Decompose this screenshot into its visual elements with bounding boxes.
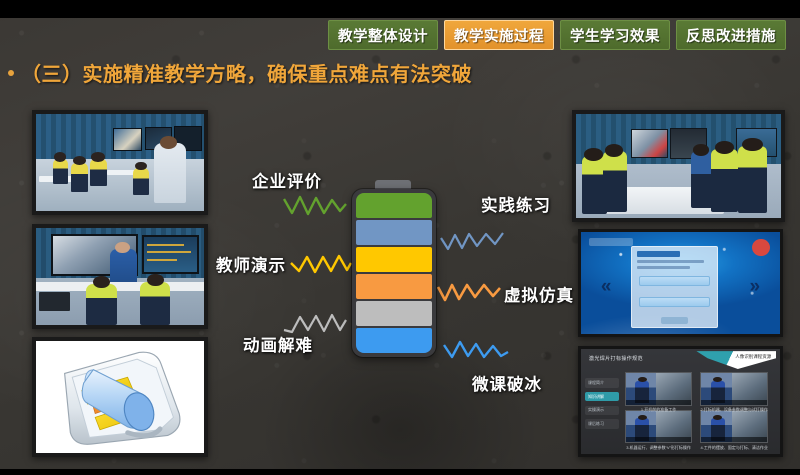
microlecture-menu-item-2[interactable]: 实操演示 xyxy=(585,406,619,415)
title-bullet-icon xyxy=(8,70,14,76)
battery-segment-1 xyxy=(356,220,432,245)
battery-segment-4 xyxy=(356,301,432,326)
navigation-tabs: 教学整体设计 教学实施过程 学生学习效果 反思改进措施 xyxy=(328,20,786,50)
top-black-bar xyxy=(0,0,800,18)
photo-students-practice xyxy=(572,110,785,222)
video-caption-1: 2.打标机器、设备参数调整与试打操作 xyxy=(700,407,768,413)
page-title: （三）实施精准教学方略，确保重点难点有法突破 xyxy=(21,58,472,87)
battery-segment-5 xyxy=(356,328,432,353)
photo-microlecture-platform-ui: 激光焊片打标操作规范 人像识别课程资源 课程简介 知识讲解 实操演示 课后练习 … xyxy=(578,346,783,457)
tab-learning-outcomes[interactable]: 学生学习效果 xyxy=(560,20,670,50)
microlecture-menu-item-1[interactable]: 知识讲解 xyxy=(585,392,619,401)
video-caption-2: 3.机器运行、调整参数“V”形打标操作 xyxy=(625,445,693,451)
zigzag-connector-3 xyxy=(440,228,504,254)
vr-prev-arrow-icon[interactable]: « xyxy=(601,277,612,296)
video-caption-0: 1.开机前的准备工作 xyxy=(625,407,693,413)
video-thumb-1[interactable] xyxy=(700,372,768,406)
tab-teaching-implementation[interactable]: 教学实施过程 xyxy=(444,20,554,50)
callout-label-microlecture-icebreaker: 微课破冰 xyxy=(472,371,542,395)
zigzag-connector-5 xyxy=(443,337,509,363)
battery-segment-0 xyxy=(356,193,432,218)
callout-label-teacher-demonstration: 教师演示 xyxy=(216,252,286,276)
video-thumb-0[interactable] xyxy=(625,372,693,406)
microlecture-header: 激光焊片打标操作规范 xyxy=(589,355,643,362)
video-thumb-2[interactable] xyxy=(625,410,693,444)
microlecture-banner: 人像识别课程资源 xyxy=(696,351,776,369)
vr-next-arrow-icon[interactable]: » xyxy=(750,277,761,296)
battery-segment-3 xyxy=(356,274,432,299)
slide-title-row: （三）实施精准教学方略，确保重点难点有法突破 xyxy=(8,58,472,87)
photo-teacher-demonstration xyxy=(32,224,208,329)
battery-diagram xyxy=(352,189,436,357)
zigzag-connector-0 xyxy=(283,193,347,219)
zigzag-connector-1 xyxy=(290,251,352,277)
callout-label-practical-exercise: 实践练习 xyxy=(481,192,551,216)
video-caption-3: 4.工件的摆放、固定与打标、清洁作业 xyxy=(700,445,768,451)
photo-3d-animation-model xyxy=(32,337,208,457)
callout-label-virtual-simulation: 虚拟仿真 xyxy=(504,282,574,306)
zigzag-connector-4 xyxy=(437,279,501,305)
cad-cylinder-illustration xyxy=(36,341,204,453)
microlecture-menu-item-0[interactable]: 课程简介 xyxy=(585,378,619,387)
callout-label-enterprise-evaluation: 企业评价 xyxy=(252,168,322,192)
presentation-slide: 教学整体设计 教学实施过程 学生学习效果 反思改进措施 （三）实施精准教学方略，… xyxy=(0,0,800,475)
vr-dialog-panel xyxy=(631,246,719,328)
tab-teaching-design[interactable]: 教学整体设计 xyxy=(328,20,438,50)
microlecture-menu-item-3[interactable]: 课后练习 xyxy=(585,419,619,428)
bottom-black-bar xyxy=(0,469,800,475)
tab-reflection-improvement[interactable]: 反思改进措施 xyxy=(676,20,786,50)
callout-label-animation-explanation: 动画解难 xyxy=(243,332,313,356)
video-thumb-3[interactable] xyxy=(700,410,768,444)
battery-segment-2 xyxy=(356,247,432,272)
photo-virtual-simulation-ui: « » xyxy=(578,229,783,337)
photo-classroom-overview xyxy=(32,110,208,215)
